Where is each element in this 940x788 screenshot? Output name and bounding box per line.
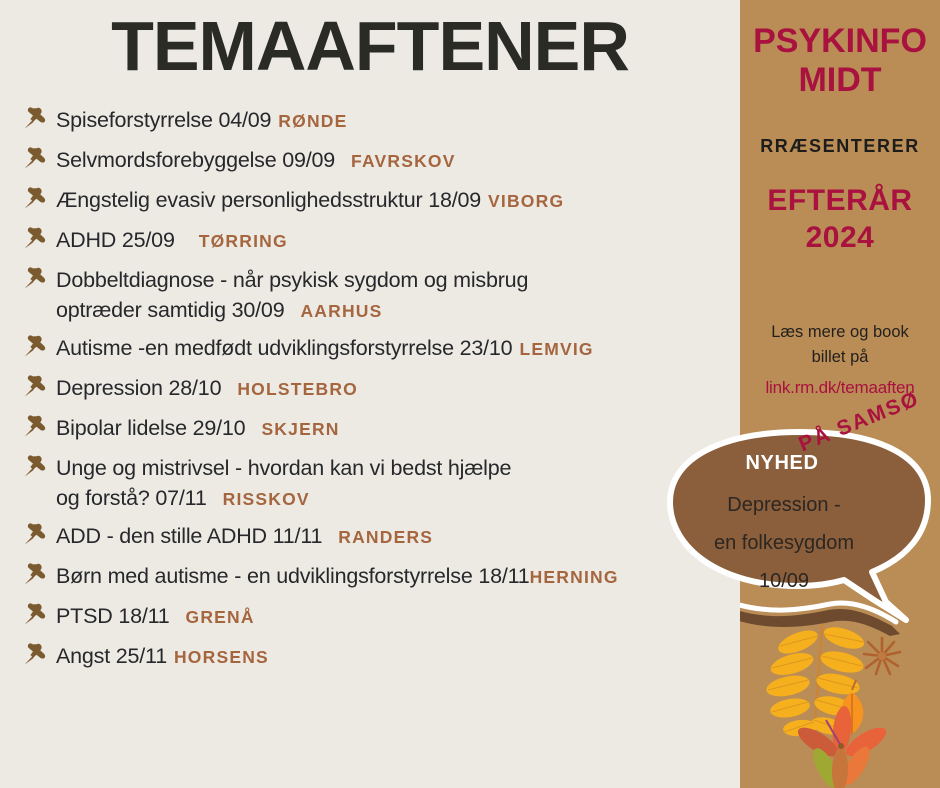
booking-line-1: Læs mere og book	[746, 320, 934, 345]
event-row[interactable]: PTSD 18/11GRENÅ	[22, 600, 740, 634]
event-row[interactable]: Selvmordsforebyggelse 09/09FAVRSKOV	[22, 144, 740, 178]
booking-info: Læs mere og book billet på	[746, 320, 934, 370]
pushpin-icon	[22, 414, 56, 444]
event-text: Børn med autisme - en udviklingsforstyrr…	[56, 560, 740, 592]
bubble-line-2: en folkesygdom	[684, 524, 884, 562]
event-row[interactable]: ADD - den stille ADHD 11/11RANDERS	[22, 520, 740, 554]
event-text: ADHD 25/09TØRRING	[56, 224, 740, 256]
event-city: RANDERS	[338, 527, 433, 547]
pushpin-icon	[22, 642, 56, 672]
brand-line-1: PSYKINFO	[740, 22, 940, 61]
event-text: Autisme -en medfødt udviklingsforstyrrel…	[56, 332, 740, 364]
event-city: AARHUS	[300, 301, 382, 321]
event-title-line-1: Unge og mistrivsel - hvordan kan vi beds…	[56, 453, 740, 483]
pushpin-icon	[22, 374, 56, 404]
event-title: Selvmordsforebyggelse 09/09	[56, 148, 335, 172]
event-row[interactable]: Unge og mistrivsel - hvordan kan vi beds…	[22, 452, 740, 514]
event-city: HERNING	[530, 567, 619, 587]
pushpin-icon	[22, 522, 56, 552]
event-city: RISSKOV	[223, 489, 310, 509]
event-row[interactable]: Angst 25/11HORSENS	[22, 640, 740, 674]
season-heading: EFTERÅR 2024	[740, 182, 940, 256]
event-title: Børn med autisme - en udviklingsforstyrr…	[56, 564, 530, 588]
pushpin-icon	[22, 334, 56, 364]
brand-name: PSYKINFO MIDT	[740, 22, 940, 100]
event-title: PTSD 18/11	[56, 604, 170, 628]
event-text: Selvmordsforebyggelse 09/09FAVRSKOV	[56, 144, 740, 176]
event-city: SKJERN	[261, 419, 339, 439]
left-content-column: TEMAAFTENER Spiseforstyrrelse 04/09RØNDE…	[0, 0, 740, 788]
event-row[interactable]: Spiseforstyrrelse 04/09RØNDE	[22, 104, 740, 138]
bubble-line-1: Depression -	[684, 486, 884, 524]
event-row[interactable]: Autisme -en medfødt udviklingsforstyrrel…	[22, 332, 740, 366]
event-text: Ængstelig evasiv personlighedsstruktur 1…	[56, 184, 740, 216]
event-row[interactable]: Bipolar lidelse 29/10SKJERN	[22, 412, 740, 446]
event-title: Angst 25/11	[56, 644, 167, 668]
poster-canvas: TEMAAFTENER Spiseforstyrrelse 04/09RØNDE…	[0, 0, 940, 788]
event-row[interactable]: Dobbeltdiagnose - når psykisk sygdom og …	[22, 264, 740, 326]
event-city: HOLSTEBRO	[237, 379, 358, 399]
season-line-2: 2024	[740, 219, 940, 256]
event-title-continued: og forstå? 07/11	[56, 486, 207, 510]
season-line-1: EFTERÅR	[740, 182, 940, 219]
pushpin-icon	[22, 146, 56, 176]
event-text: Unge og mistrivsel - hvordan kan vi beds…	[56, 452, 740, 514]
pushpin-icon	[22, 106, 56, 136]
event-city: TØRRING	[199, 231, 288, 251]
news-speech-bubble: NYHED Depression - en folkesygdom 10/09 …	[660, 424, 940, 639]
event-text: Depression 28/10HOLSTEBRO	[56, 372, 740, 404]
bubble-event-text: Depression - en folkesygdom 10/09	[684, 486, 884, 600]
event-row[interactable]: Børn med autisme - en udviklingsforstyrr…	[22, 560, 740, 594]
event-title-continued: optræder samtidig 30/09	[56, 298, 284, 322]
event-text: PTSD 18/11GRENÅ	[56, 600, 740, 632]
pushpin-icon	[22, 454, 56, 484]
event-title: ADHD 25/09	[56, 228, 175, 252]
pushpin-icon	[22, 602, 56, 632]
pushpin-icon	[22, 226, 56, 256]
pushpin-icon	[22, 562, 56, 592]
event-text: Angst 25/11HORSENS	[56, 640, 740, 672]
booking-line-2: billet på	[746, 345, 934, 370]
event-title: Ængstelig evasiv personlighedsstruktur 1…	[56, 188, 481, 212]
event-text: Dobbeltdiagnose - når psykisk sygdom og …	[56, 264, 740, 326]
event-text: ADD - den stille ADHD 11/11RANDERS	[56, 520, 740, 552]
event-list: Spiseforstyrrelse 04/09RØNDESelvmordsfor…	[22, 104, 740, 680]
event-title-line-2: optræder samtidig 30/09AARHUS	[56, 295, 740, 326]
brand-line-2: MIDT	[740, 61, 940, 100]
event-text: Bipolar lidelse 29/10SKJERN	[56, 412, 740, 444]
event-text: Spiseforstyrrelse 04/09RØNDE	[56, 104, 740, 136]
presents-label: RRÆSENTERER	[740, 136, 940, 157]
pushpin-icon	[22, 186, 56, 216]
event-city: GRENÅ	[186, 607, 255, 627]
event-title: Spiseforstyrrelse 04/09	[56, 108, 271, 132]
page-title: TEMAAFTENER	[0, 6, 740, 86]
event-city: LEMVIG	[519, 339, 593, 359]
event-title: Autisme -en medfødt udviklingsforstyrrel…	[56, 336, 512, 360]
event-row[interactable]: Depression 28/10HOLSTEBRO	[22, 372, 740, 406]
pushpin-icon	[22, 266, 56, 296]
event-title: Bipolar lidelse 29/10	[56, 416, 245, 440]
event-city: HORSENS	[174, 647, 269, 667]
event-title: ADD - den stille ADHD 11/11	[56, 524, 322, 548]
event-city: VIBORG	[488, 191, 564, 211]
event-title-line-2: og forstå? 07/11RISSKOV	[56, 483, 740, 514]
event-city: RØNDE	[278, 111, 347, 131]
event-row[interactable]: ADHD 25/09TØRRING	[22, 224, 740, 258]
event-title: Depression 28/10	[56, 376, 221, 400]
event-title-line-1: Dobbeltdiagnose - når psykisk sygdom og …	[56, 265, 740, 295]
event-city: FAVRSKOV	[351, 151, 456, 171]
event-row[interactable]: Ængstelig evasiv personlighedsstruktur 1…	[22, 184, 740, 218]
news-badge: NYHED	[722, 452, 842, 475]
bubble-line-3: 10/09	[684, 562, 884, 600]
